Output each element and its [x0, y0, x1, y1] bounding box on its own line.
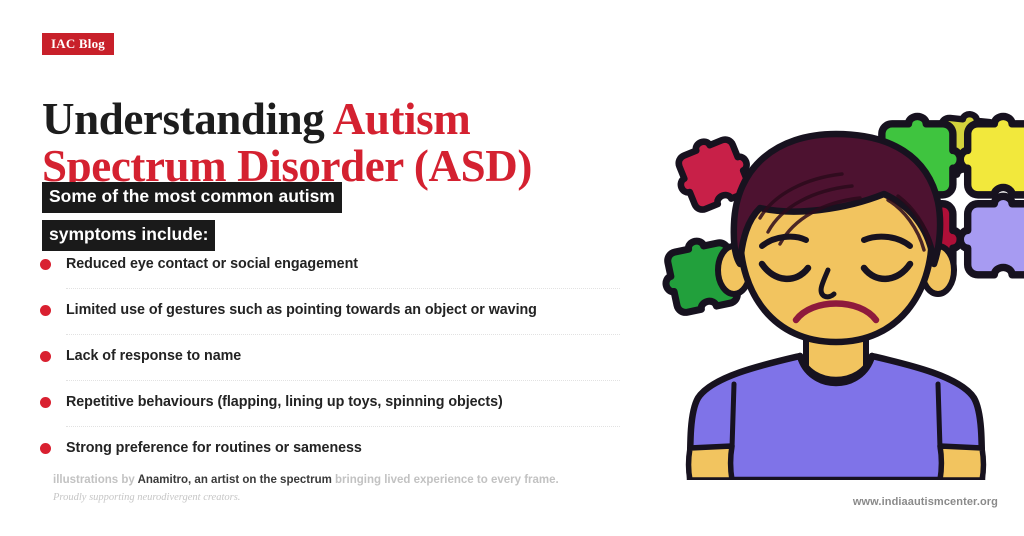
- page-title-plain: Understanding: [42, 94, 333, 144]
- list-divider: [66, 426, 620, 427]
- website-url[interactable]: www.indiaautismcenter.org: [853, 496, 998, 508]
- cluster-periwinkle-piece: [960, 196, 1024, 274]
- list-divider: [66, 380, 620, 381]
- subheading-line-1: Some of the most common autism: [42, 182, 342, 213]
- credit-prefix: illustrations by: [53, 474, 138, 486]
- illustration-credit: illustrations by Anamitro, an artist on …: [53, 473, 653, 503]
- list-divider: [66, 334, 620, 335]
- subheading: Some of the most common autism symptoms …: [42, 182, 462, 251]
- list-item: Lack of response to name: [40, 348, 620, 367]
- bullet-dot-icon: [40, 443, 51, 454]
- list-item: Repetitive behaviours (flapping, lining …: [40, 394, 620, 413]
- subheading-line-2: symptoms include:: [42, 220, 215, 251]
- page-title-accent-1: Autism: [333, 94, 471, 144]
- page-title-line-1: Understanding Autism: [42, 96, 642, 143]
- symptom-list: Reduced eye contact or social engagement…: [40, 256, 620, 459]
- torso-shirt: [689, 334, 984, 480]
- list-item-label: Strong preference for routines or samene…: [66, 440, 362, 458]
- page-title: Understanding Autism Spectrum Disorder (…: [42, 96, 642, 191]
- list-item: Limited use of gestures such as pointing…: [40, 302, 620, 321]
- iac-blog-badge[interactable]: IAC Blog: [42, 33, 114, 55]
- list-item-label: Lack of response to name: [66, 348, 241, 366]
- cluster-yellow-piece: [960, 116, 1024, 194]
- list-item: Reduced eye contact or social engagement: [40, 256, 620, 275]
- credit-line: illustrations by Anamitro, an artist on …: [53, 473, 653, 489]
- list-item: Strong preference for routines or samene…: [40, 440, 620, 459]
- bullet-dot-icon: [40, 351, 51, 362]
- credit-suffix: bringing lived experience to every frame…: [332, 474, 559, 486]
- bullet-dot-icon: [40, 259, 51, 270]
- credit-artist: Anamitro, an artist on the spectrum: [138, 474, 332, 486]
- list-item-label: Repetitive behaviours (flapping, lining …: [66, 394, 503, 412]
- illustration-sad-person-with-puzzle-pieces: [648, 98, 1024, 480]
- list-item-label: Reduced eye contact or social engagement: [66, 256, 358, 274]
- bullet-dot-icon: [40, 305, 51, 316]
- list-divider: [66, 288, 620, 289]
- bullet-dot-icon: [40, 397, 51, 408]
- credit-tagline: Proudly supporting neurodivergent creato…: [53, 492, 653, 503]
- infographic-canvas: IAC Blog Understanding Autism Spectrum D…: [0, 0, 1024, 536]
- list-item-label: Limited use of gestures such as pointing…: [66, 302, 537, 320]
